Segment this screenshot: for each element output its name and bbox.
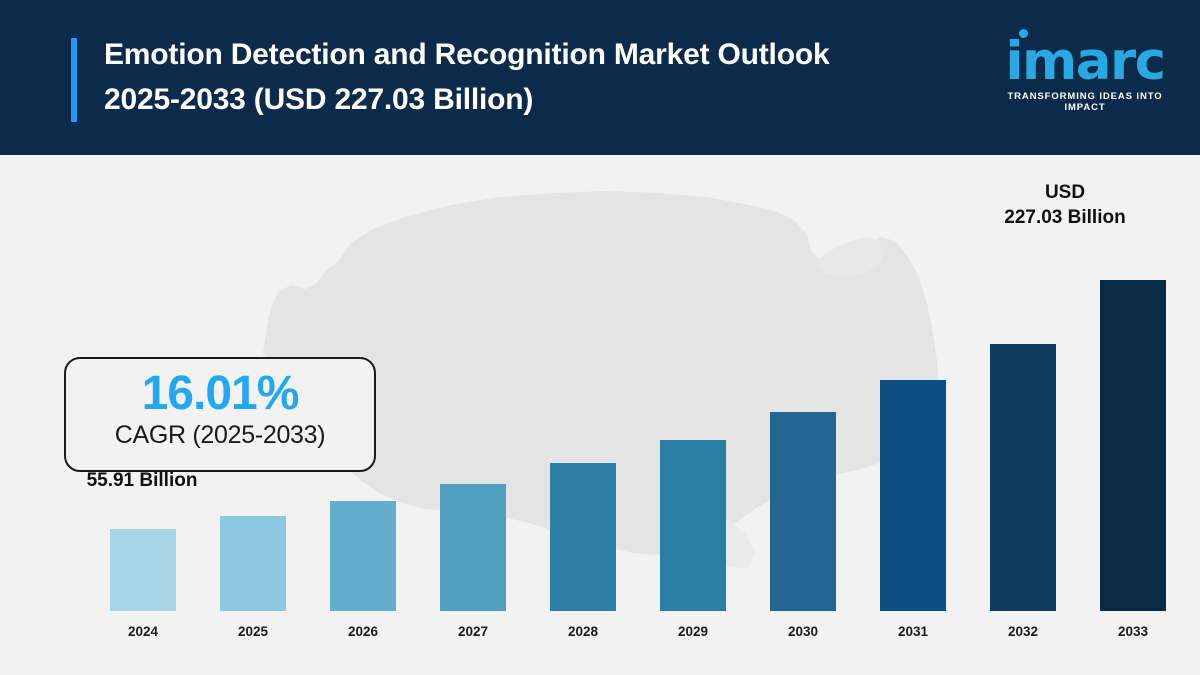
cagr-label: CAGR (2025-2033) — [66, 420, 374, 450]
bar-2025 — [220, 516, 286, 611]
logo-tagline: TRANSFORMING IDEAS INTO IMPACT — [996, 91, 1174, 113]
page-header: Emotion Detection and Recognition Market… — [0, 0, 1200, 155]
bar-2026 — [330, 501, 396, 611]
cagr-callout-box: 16.01% CAGR (2025-2033) — [64, 357, 376, 472]
logo-wordmark-label: imarc — [1005, 31, 1164, 92]
bar-2030 — [770, 412, 836, 611]
bar-2032 — [990, 344, 1056, 611]
value-callout-last: USD 227.03 Billion — [975, 180, 1155, 230]
chart-area: 16.01% CAGR (2025-2033) USD 55.91 Billio… — [0, 155, 1200, 675]
x-axis-label-2028: 2028 — [528, 624, 638, 639]
bar-2029 — [660, 440, 726, 611]
x-axis-label-2031: 2031 — [858, 624, 968, 639]
cagr-value: 16.01% — [66, 368, 374, 420]
bar-2027 — [440, 484, 506, 611]
bar-2031 — [880, 380, 946, 611]
x-axis-label-2024: 2024 — [88, 624, 198, 639]
x-axis-label-2029: 2029 — [638, 624, 748, 639]
x-axis-label-2025: 2025 — [198, 624, 308, 639]
bar-2033 — [1100, 280, 1166, 611]
imarc-logo: imarc TRANSFORMING IDEAS INTO IMPACT — [996, 36, 1174, 113]
x-axis-label-2027: 2027 — [418, 624, 528, 639]
x-axis-label-2032: 2032 — [968, 624, 1078, 639]
x-axis-label-2026: 2026 — [308, 624, 418, 639]
x-axis-label-2030: 2030 — [748, 624, 858, 639]
bar-2024 — [110, 529, 176, 611]
page-title: Emotion Detection and Recognition Market… — [104, 32, 974, 122]
bar-2028 — [550, 463, 616, 611]
logo-wordmark-text: imarc — [996, 36, 1174, 88]
x-axis-label-2033: 2033 — [1078, 624, 1188, 639]
header-accent-bar — [71, 38, 77, 122]
logo-dot-icon — [1019, 29, 1028, 38]
